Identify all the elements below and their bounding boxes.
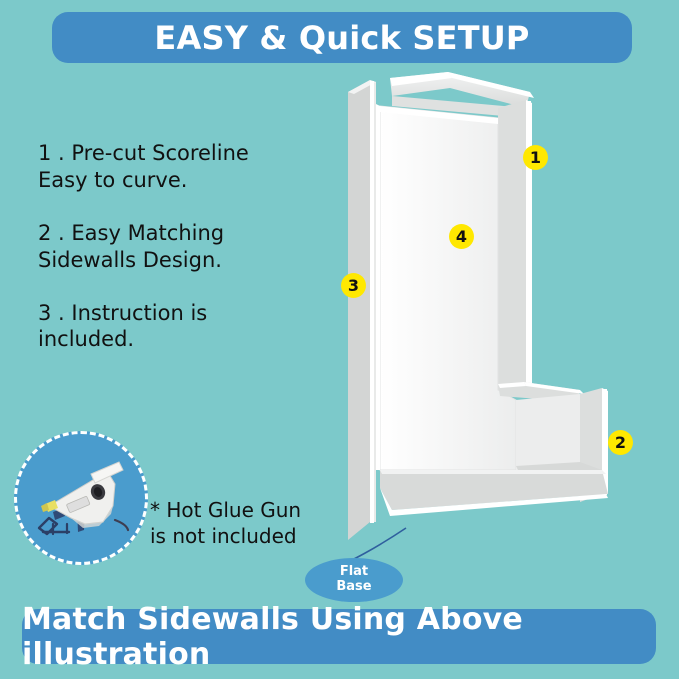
feature-list: 1 . Pre-cut Scoreline Easy to curve. 2 .…	[38, 140, 328, 379]
product-infographic: EASY & Quick SETUP 1 . Pre-cut Scoreline…	[0, 0, 679, 679]
bottom-banner: Match Sidewalls Using Above illustration	[22, 609, 656, 664]
glue-gun-note: * Hot Glue Gun is not included	[150, 497, 350, 549]
panel-assembly-illustration	[330, 70, 660, 580]
feature-item-2: 2 . Easy Matching Sidewalls Design.	[38, 220, 328, 274]
hot-glue-gun-icon	[27, 444, 139, 556]
top-banner-title: EASY & Quick SETUP	[154, 19, 529, 57]
glue-gun-badge	[14, 431, 148, 565]
bottom-banner-title: Match Sidewalls Using Above illustration	[22, 602, 656, 672]
lower-inner-face	[516, 394, 580, 470]
badge-1: 1	[523, 145, 548, 170]
main-front-panel	[376, 104, 516, 470]
flat-base-panel	[380, 470, 608, 516]
badge-3: 3	[341, 273, 366, 298]
badge-4: 4	[449, 224, 474, 249]
top-banner: EASY & Quick SETUP	[52, 12, 632, 63]
left-sidewall	[348, 80, 376, 540]
right-sidewall-upper	[498, 100, 532, 400]
badge-2: 2	[608, 430, 633, 455]
feature-item-1: 1 . Pre-cut Scoreline Easy to curve.	[38, 140, 328, 194]
feature-item-3: 3 . Instruction is included.	[38, 300, 328, 354]
flat-base-callout: Flat Base	[305, 558, 403, 602]
